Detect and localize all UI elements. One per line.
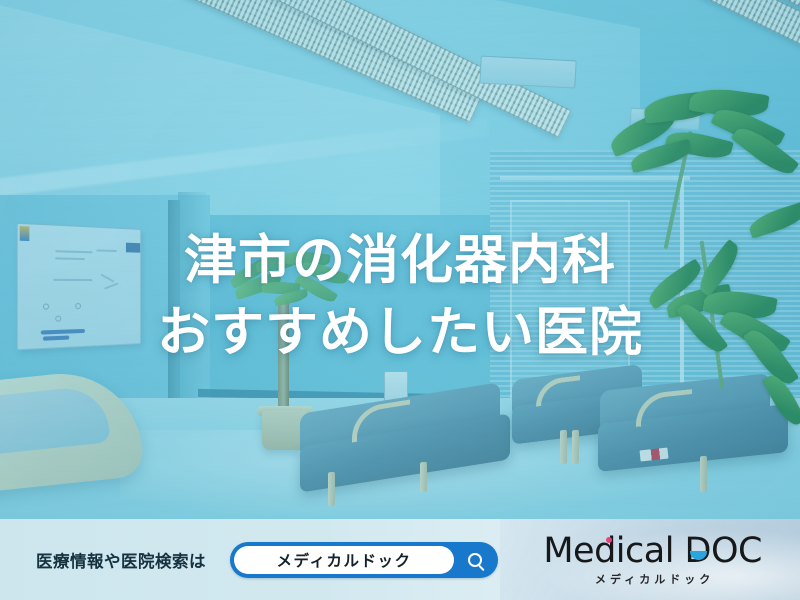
clinic-photo-background	[0, 0, 800, 519]
logo-wordmark-text: Medical DOC	[543, 531, 762, 571]
search-icon	[468, 553, 482, 567]
banner-image: 津市の消化器内科 おすすめしたい医院 医療情報や医院検索は メディカルドック M…	[0, 0, 800, 600]
logo-subtitle: メディカルドック	[591, 571, 714, 587]
logo-wordmark: Medical DOC	[543, 532, 762, 570]
search-input[interactable]: メディカルドック	[234, 546, 454, 574]
footer-bar: 医療情報や医院検索は メディカルドック Medical DOC メディカルドック	[0, 519, 800, 600]
search-pill[interactable]: メディカルドック	[230, 542, 498, 578]
search-button[interactable]	[464, 549, 486, 571]
footer-lead-text: 医療情報や医院検索は	[36, 548, 206, 572]
medical-doc-logo[interactable]: Medical DOC メディカルドック	[543, 532, 776, 587]
search-input-value: メディカルドック	[277, 549, 412, 571]
photo-vignette	[0, 0, 800, 519]
